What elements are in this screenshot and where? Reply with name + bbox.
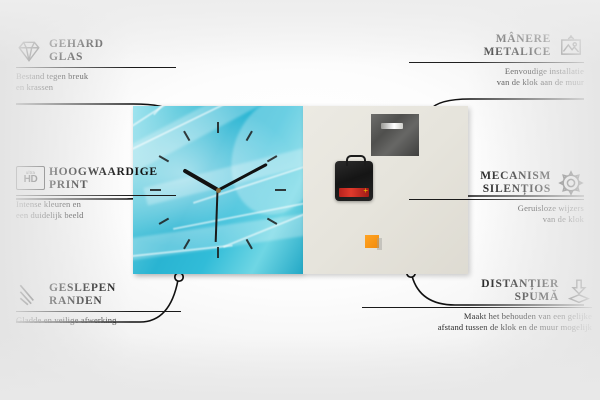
callout-rule bbox=[409, 62, 584, 63]
callout-title-line1: GEHARD bbox=[49, 38, 104, 51]
callout-title-line2: RANDEN bbox=[49, 295, 116, 308]
callout-caption-line2: afstand tussen de klok en de muur mogeli… bbox=[362, 322, 592, 333]
callout-caption-line1: Maakt het behouden van een gelijke bbox=[362, 311, 592, 322]
callout-caption-line1: Bestand tegen breuk bbox=[16, 71, 176, 82]
infographic-canvas: GEHARD GLAS Bestand tegen breuk en krass… bbox=[0, 0, 600, 400]
callout-rule bbox=[16, 311, 181, 312]
callout-title-line2: SPUMĂ bbox=[481, 291, 559, 304]
gear-icon bbox=[558, 170, 584, 196]
beveled-edges-icon bbox=[16, 282, 42, 308]
callout-distantier-spuma: DISTANȚIER SPUMĂ Maakt het behouden van … bbox=[362, 278, 592, 333]
callout-mecanism-silentios: MECANISM SILENȚIOS Geruisloze wijzers va… bbox=[409, 170, 584, 225]
mechanism-loop bbox=[346, 155, 366, 166]
ultra-hd-big-label: HD bbox=[24, 175, 38, 185]
callout-gehard-glas: GEHARD GLAS Bestand tegen breuk en krass… bbox=[16, 38, 176, 93]
callout-title-line2: METALICE bbox=[484, 46, 551, 59]
callout-title-line1: GESLEPEN bbox=[49, 282, 116, 295]
callout-rule bbox=[409, 199, 584, 200]
clock-center-pin bbox=[216, 188, 221, 193]
metal-hanger bbox=[371, 114, 419, 156]
callout-caption-line2: van de klok aan de muur bbox=[409, 77, 584, 88]
battery bbox=[339, 188, 369, 197]
foam-spacer bbox=[365, 235, 379, 248]
callout-manere-metalice: MÂNERE METALICE Eenvoudige installatie v… bbox=[409, 33, 584, 88]
framed-picture-hanging-icon bbox=[558, 33, 584, 59]
callout-title-line2: GLAS bbox=[49, 51, 104, 64]
callout-rule bbox=[16, 195, 176, 196]
callout-geslepen-randen: GESLEPEN RANDEN Gladde en veilige afwerk… bbox=[16, 282, 181, 326]
callout-title-line1: MÂNERE bbox=[484, 33, 551, 46]
callout-title-line1: DISTANȚIER bbox=[481, 278, 559, 291]
clock-tick bbox=[217, 122, 219, 190]
callout-title-line2: SILENȚIOS bbox=[480, 183, 551, 196]
callout-caption-line1: Geruisloze wijzers bbox=[409, 203, 584, 214]
callout-caption-line2: een duidelijk beeld bbox=[16, 210, 176, 221]
callout-title-line2: PRINT bbox=[49, 179, 158, 192]
clock-mechanism bbox=[335, 161, 373, 201]
callout-caption-line1: Eenvoudige installatie bbox=[409, 66, 584, 77]
ultra-hd-icon: ultra HD bbox=[16, 166, 42, 192]
clock-tick bbox=[218, 189, 286, 191]
callout-rule bbox=[362, 307, 592, 308]
callout-hoogwaardige-print: ultra HD HOOGWAARDIGE PRINT Intense kleu… bbox=[16, 166, 176, 221]
callout-caption-line2: en krassen bbox=[16, 82, 176, 93]
callout-caption-line1: Intense kleuren en bbox=[16, 199, 176, 210]
callout-caption-line1: Gladde en veilige afwerking bbox=[16, 315, 181, 326]
callout-rule bbox=[16, 67, 176, 68]
callout-caption-line2: van de klok bbox=[409, 214, 584, 225]
diamond-icon bbox=[16, 38, 42, 64]
callout-title-line1: HOOGWAARDIGE bbox=[49, 166, 158, 179]
spacer-arrow-down-icon bbox=[566, 278, 592, 304]
callout-title-line1: MECANISM bbox=[480, 170, 551, 183]
